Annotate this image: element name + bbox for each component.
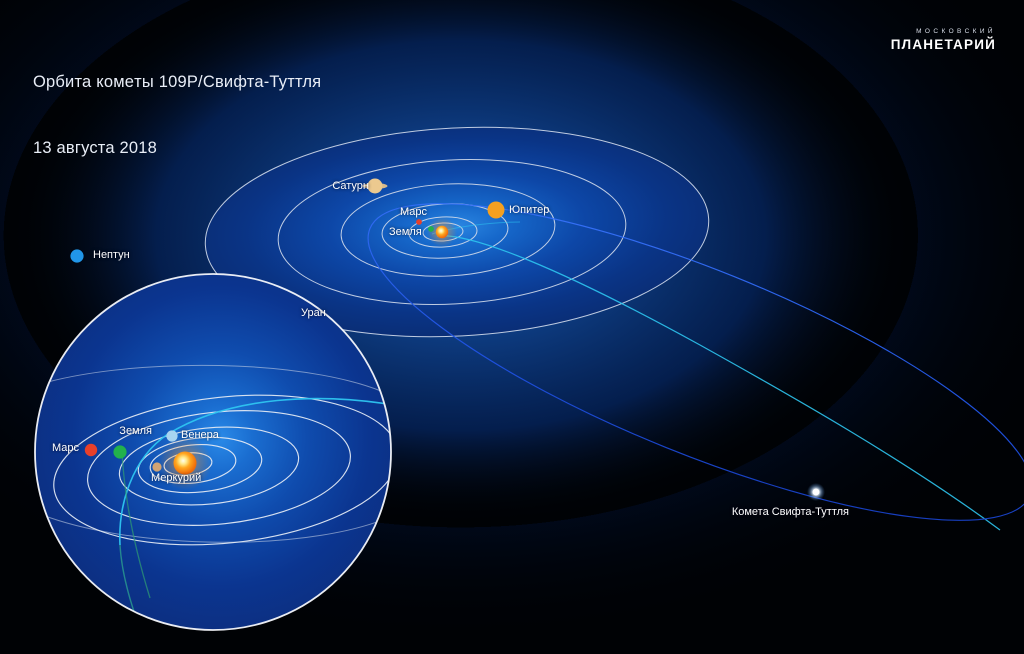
sun-main — [427, 217, 457, 247]
sun-inset — [158, 436, 212, 490]
planet-marker-neptune[interactable] — [70, 249, 83, 262]
inset-planet-marker-venus[interactable] — [166, 430, 177, 441]
diagram-canvas: Орбита комeты 109P/Свифта-Туттля 13 авгу… — [0, 0, 1024, 654]
planet-marker-jupiter[interactable] — [488, 202, 505, 219]
inset-planet-marker-mars[interactable] — [85, 444, 97, 456]
planet-marker-mars[interactable] — [416, 219, 422, 225]
inset-planet-marker-earth[interactable] — [113, 445, 126, 458]
inset-planet-marker-mercury[interactable] — [152, 462, 161, 471]
planet-marker-earth[interactable] — [428, 226, 434, 232]
comet-icon — [813, 489, 820, 496]
space-background-layer — [0, 0, 1024, 654]
comet-marker[interactable] — [807, 483, 825, 501]
saturn-body — [368, 179, 383, 194]
